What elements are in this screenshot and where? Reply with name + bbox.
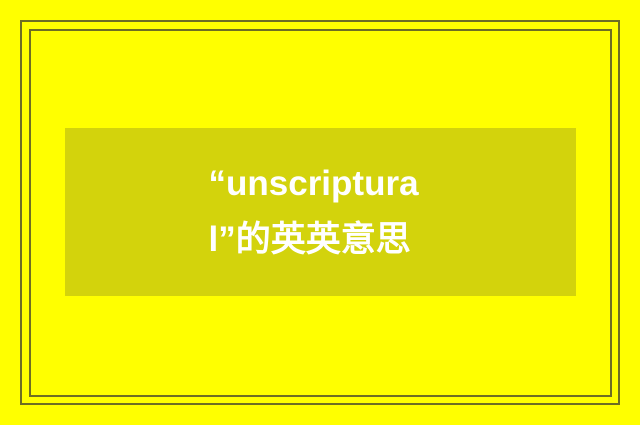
image-card: “unscriptural”的英英意思: [0, 0, 640, 425]
title-panel: “unscriptural”的英英意思: [65, 128, 576, 296]
title-text: “unscriptural”的英英意思: [209, 156, 435, 268]
